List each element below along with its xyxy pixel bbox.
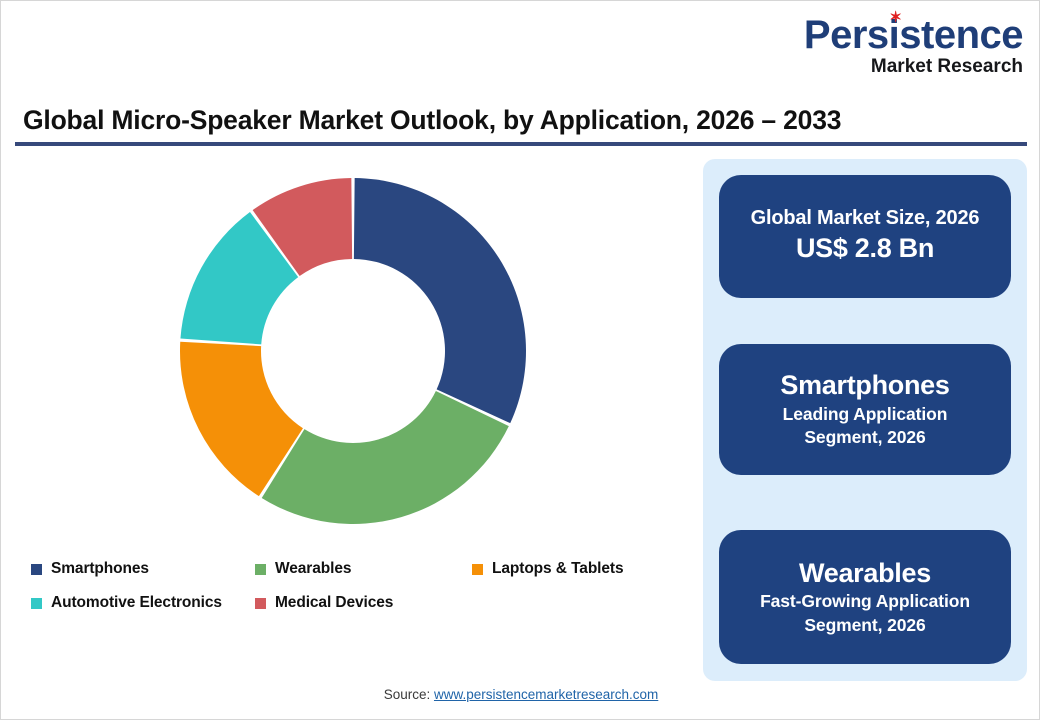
legend-item-medical-devices[interactable]: Medical Devices [255,594,393,612]
stat-card-market-size-label: Global Market Size, 2026 [751,206,980,231]
stats-panel: Global Market Size, 2026 US$ 2.8 Bn Smar… [703,159,1027,681]
stat-card-fast-growing-segment-sub1: Fast-Growing Application [760,590,970,614]
legend-item-automotive-electronics[interactable]: Automotive Electronics [31,594,255,612]
stat-card-leading-segment[interactable]: Smartphones Leading Application Segment,… [719,344,1011,475]
legend-label-automotive-electronics: Automotive Electronics [51,594,222,612]
stat-card-fast-growing-segment[interactable]: Wearables Fast-Growing Application Segme… [719,530,1011,664]
logo-wordmark: Persistence ✶ [804,15,1023,55]
donut-slice[interactable] [354,178,526,423]
legend-row: Automotive Electronics Medical Devices [31,586,691,620]
page-title: Global Micro-Speaker Market Outlook, by … [23,105,1013,136]
stat-card-fast-growing-segment-title: Wearables [799,557,931,591]
legend-swatch-medical-devices [255,598,266,609]
donut-slice[interactable] [262,391,509,524]
source-prefix: Source: [384,687,434,702]
stat-card-leading-segment-sub2: Segment, 2026 [804,426,925,450]
infographic-page: Persistence ✶ Market Research Global Mic… [0,0,1040,720]
legend-label-smartphones: Smartphones [51,560,149,578]
legend-swatch-automotive-electronics [31,598,42,609]
legend-item-smartphones[interactable]: Smartphones [31,560,255,578]
legend-item-laptops-tablets[interactable]: Laptops & Tablets [472,560,624,578]
source-footer: Source: www.persistencemarketresearch.co… [1,687,1040,702]
legend-swatch-wearables [255,564,266,575]
logo-tagline: Market Research [791,57,1023,76]
donut-chart-svg [153,156,553,546]
stat-card-leading-segment-title: Smartphones [780,369,949,403]
stat-card-market-size-value: US$ 2.8 Bn [796,231,934,266]
chart-legend: Smartphones Wearables Laptops & Tablets … [31,552,691,620]
stat-card-market-size[interactable]: Global Market Size, 2026 US$ 2.8 Bn [719,175,1011,298]
legend-label-wearables: Wearables [275,560,351,578]
legend-swatch-smartphones [31,564,42,575]
title-divider [15,142,1027,146]
legend-row: Smartphones Wearables Laptops & Tablets [31,552,691,586]
stat-card-fast-growing-segment-sub2: Segment, 2026 [804,614,925,638]
source-link[interactable]: www.persistencemarketresearch.com [434,687,658,702]
legend-label-laptops-tablets: Laptops & Tablets [492,560,624,578]
stat-card-leading-segment-sub1: Leading Application [783,403,948,427]
asterisk-icon: ✶ [889,11,902,24]
legend-item-wearables[interactable]: Wearables [255,560,472,578]
donut-chart [15,156,691,551]
legend-label-medical-devices: Medical Devices [275,594,393,612]
company-logo: Persistence ✶ Market Research [791,15,1023,81]
legend-swatch-laptops-tablets [472,564,483,575]
logo-wordmark-text: Persistence [804,13,1023,57]
